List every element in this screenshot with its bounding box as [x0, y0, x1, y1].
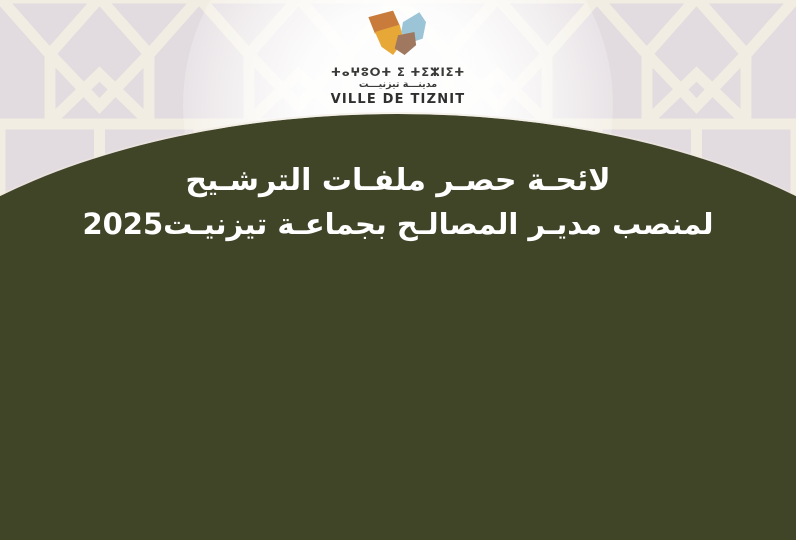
logo-arabic-text: مدينـــة تيزنيـــت	[288, 79, 508, 91]
headline-line-1: لائحـة حصـر ملفـات الترشـيح	[0, 158, 796, 203]
announcement-poster: ⵜⴰⵖⵓⵔⵜ ⵉ ⵜⵉⵣⵏⵉⵜ مدينـــة تيزنيـــت VILLE…	[0, 0, 796, 540]
logo-block: ⵜⴰⵖⵓⵔⵜ ⵉ ⵜⵉⵣⵏⵉⵜ مدينـــة تيزنيـــت VILLE…	[288, 4, 508, 108]
tiznit-emblem-icon	[355, 4, 441, 60]
headline-line-2: لمنصب مديـر المصالـح بجماعـة تيزنيـت2025	[0, 203, 796, 247]
page-title: لائحـة حصـر ملفـات الترشـيح لمنصب مديـر …	[0, 158, 796, 247]
logo-tifinagh-text: ⵜⴰⵖⵓⵔⵜ ⵉ ⵜⵉⵣⵏⵉⵜ	[288, 66, 508, 79]
logo-french-text: VILLE DE TIZNIT	[288, 92, 508, 108]
